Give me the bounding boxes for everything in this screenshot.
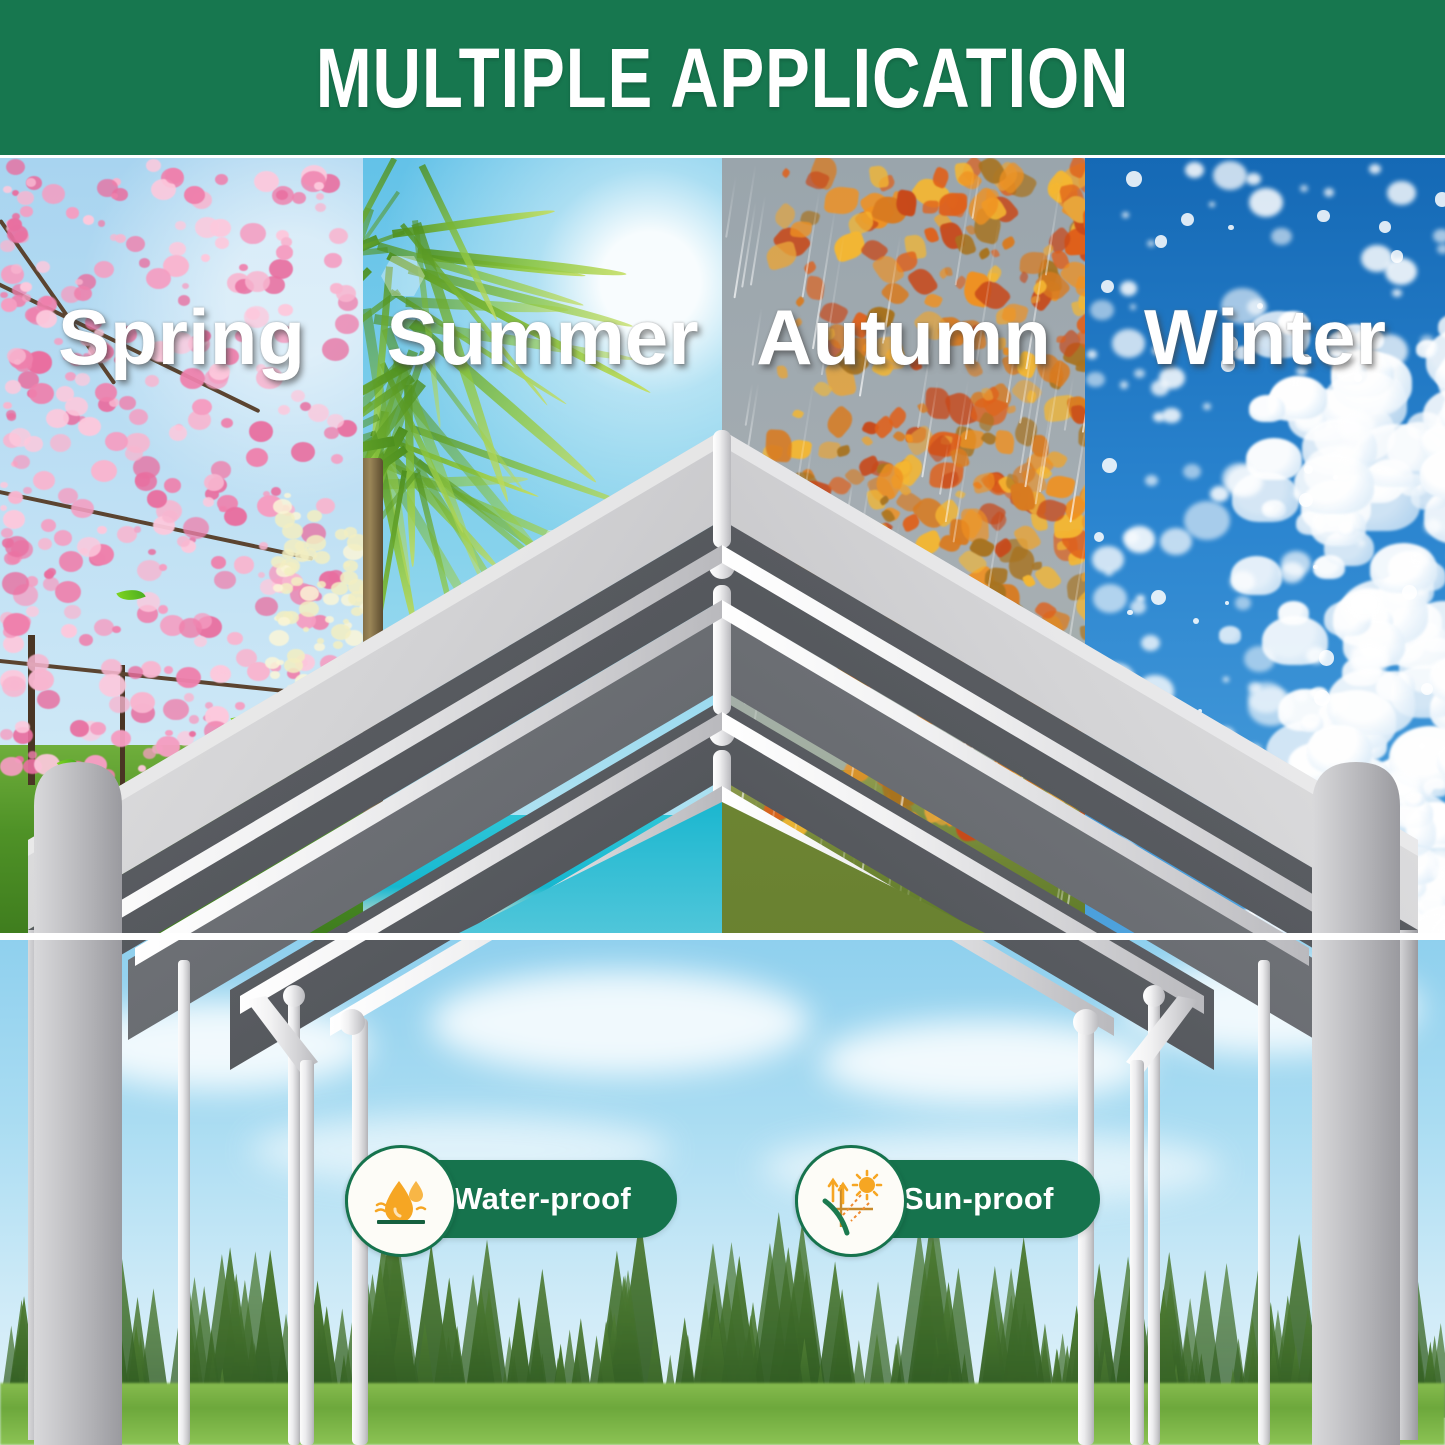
snowflake xyxy=(1387,181,1416,206)
blossom-pale xyxy=(348,579,363,594)
snowflake xyxy=(1136,675,1175,708)
blossom xyxy=(23,487,32,495)
blossom xyxy=(109,696,130,714)
snowflake xyxy=(1335,444,1361,466)
blossom xyxy=(169,242,186,256)
autumn-leaf xyxy=(846,210,876,236)
snowflake xyxy=(1313,565,1317,569)
autumn-leaf xyxy=(954,231,977,257)
blossom xyxy=(308,697,334,719)
blossom xyxy=(148,549,156,556)
snowflake xyxy=(1435,192,1445,207)
snowflake xyxy=(1151,380,1169,396)
blossom xyxy=(300,402,311,411)
snowflake xyxy=(1431,868,1445,881)
blossom xyxy=(176,667,201,688)
blossom xyxy=(175,221,185,230)
autumn-leaf xyxy=(1006,405,1016,414)
palm-trunk xyxy=(363,458,383,818)
snowflake xyxy=(1228,225,1234,231)
blossom-pale xyxy=(314,551,330,564)
blossom-pale xyxy=(331,624,351,640)
rain-streak xyxy=(859,562,874,647)
blossom xyxy=(55,581,81,603)
water-drop-icon xyxy=(365,1165,437,1237)
blossom xyxy=(8,491,23,504)
blossom xyxy=(7,218,23,231)
blossom-pale xyxy=(273,499,292,514)
autumn-leaf xyxy=(829,631,862,658)
autumn-leaf xyxy=(780,169,790,180)
blossom xyxy=(90,722,106,736)
autumn-leaf xyxy=(1045,473,1076,500)
autumn-leaf xyxy=(849,669,858,680)
season-panel-winter: Winter xyxy=(1085,158,1445,935)
snowflake xyxy=(1086,762,1109,781)
blossom-pale xyxy=(345,676,352,682)
blossom xyxy=(3,635,24,653)
blossom xyxy=(28,751,37,759)
summer-sea xyxy=(363,815,722,935)
blossom-pale xyxy=(325,616,334,623)
blossom xyxy=(329,228,348,244)
blossom xyxy=(71,499,94,519)
autumn-leaf xyxy=(772,640,812,682)
blossom xyxy=(324,253,341,268)
snowflake xyxy=(1299,493,1313,507)
blossom xyxy=(20,282,33,293)
blossom xyxy=(255,597,278,616)
season-panel-summer: Summer xyxy=(363,158,722,935)
snowflake xyxy=(1213,161,1247,190)
header-banner: MULTIPLE APPLICATION xyxy=(0,0,1445,155)
frost-branch xyxy=(1249,395,1285,422)
blossom-pale xyxy=(302,736,320,751)
blossom xyxy=(54,530,72,546)
snowflake xyxy=(1126,171,1142,187)
rain-streak xyxy=(734,164,757,298)
autumn-leaf xyxy=(790,220,812,239)
snowflake xyxy=(1145,475,1158,486)
blossom xyxy=(314,182,324,190)
blossom xyxy=(276,245,293,259)
blossom xyxy=(33,471,55,490)
blossom-pale xyxy=(314,643,324,651)
blossom xyxy=(195,217,220,238)
snowflake xyxy=(1223,677,1229,682)
water-proof-icon-circle xyxy=(345,1145,457,1257)
snowflake xyxy=(1369,164,1381,174)
blossom-pale xyxy=(299,601,319,617)
blossom xyxy=(111,730,131,747)
blossom-pale xyxy=(270,671,280,679)
blossom xyxy=(158,605,168,614)
snowflake xyxy=(1178,838,1192,852)
blossom xyxy=(5,380,21,394)
snowflake xyxy=(1324,188,1334,197)
blossom xyxy=(192,399,211,415)
season-label-spring: Spring xyxy=(0,298,363,376)
snowflake xyxy=(1437,244,1445,254)
marketing-image: MULTIPLE APPLICATION Spring Summer xyxy=(0,0,1445,1445)
blossom xyxy=(164,666,173,674)
snowflake xyxy=(1230,571,1255,592)
autumn-leaf xyxy=(770,598,786,616)
blossom xyxy=(327,414,344,428)
snowflake xyxy=(1119,770,1129,780)
blossom xyxy=(91,460,117,482)
blossom xyxy=(249,421,273,442)
snowflake xyxy=(1276,917,1291,930)
snowflake xyxy=(1223,752,1262,785)
blossom xyxy=(169,425,187,440)
blossom xyxy=(324,427,339,439)
autumn-leaf xyxy=(869,165,889,189)
snowflake xyxy=(1209,202,1215,207)
snowflake xyxy=(1433,229,1445,244)
blossom xyxy=(184,693,195,702)
autumn-leaf xyxy=(1001,235,1017,250)
autumn-leaf xyxy=(993,712,1009,725)
cloud xyxy=(1120,960,1420,1055)
blossom-pale xyxy=(333,641,343,649)
snowflake xyxy=(1402,585,1417,600)
snowflake xyxy=(1092,546,1123,573)
blossom-pale xyxy=(278,617,290,627)
blossom xyxy=(331,454,344,465)
snowflake xyxy=(1244,912,1256,924)
blossom xyxy=(46,409,68,428)
blossom xyxy=(143,748,156,759)
autumn-leaf xyxy=(860,435,873,448)
blossom xyxy=(24,436,43,452)
snowflake xyxy=(1101,280,1114,293)
frost-branch xyxy=(1307,725,1372,774)
frost-branch xyxy=(1368,806,1436,857)
blossom xyxy=(26,606,39,617)
blossom-pale xyxy=(314,679,322,685)
autumn-leaf xyxy=(977,247,991,260)
blossom xyxy=(3,186,12,194)
blossom-pale xyxy=(269,630,289,646)
blossom xyxy=(0,482,8,489)
blossom-pale xyxy=(303,627,309,632)
blossom-pale xyxy=(317,581,326,588)
blossom-pale xyxy=(295,674,312,688)
blossom xyxy=(29,383,53,404)
snowflake xyxy=(1094,532,1104,542)
snowflake xyxy=(1147,240,1155,247)
blossom xyxy=(64,605,81,619)
blossom xyxy=(119,396,136,410)
blossom xyxy=(254,171,279,192)
blossom-pale xyxy=(307,510,322,522)
meadow xyxy=(0,1383,1445,1445)
blossom xyxy=(130,692,155,714)
autumn-leaf xyxy=(935,706,952,727)
blossom xyxy=(291,442,315,463)
blossom xyxy=(3,510,26,529)
snowflake xyxy=(1128,752,1132,756)
cloud xyxy=(70,1000,370,1090)
blossom xyxy=(204,721,228,742)
snowflake xyxy=(1249,188,1284,218)
snowflake xyxy=(1183,464,1201,479)
blossom xyxy=(204,474,224,491)
snowflake xyxy=(1105,570,1113,577)
page-title: MULTIPLE APPLICATION xyxy=(316,36,1130,120)
blossom xyxy=(128,666,144,679)
blossom xyxy=(5,536,29,557)
blossom xyxy=(37,690,60,710)
snowflake xyxy=(1351,766,1359,773)
cloud xyxy=(430,970,810,1075)
blossom-pale xyxy=(284,658,303,673)
snowflake xyxy=(1095,663,1134,696)
snowflake xyxy=(1162,408,1180,424)
snowflake xyxy=(1261,817,1303,853)
blossom xyxy=(47,568,56,575)
blossom-pale xyxy=(275,511,296,528)
blossom xyxy=(17,191,34,205)
snowflake xyxy=(1185,162,1205,179)
snowflake xyxy=(1155,235,1167,247)
badge-sun-proof[interactable]: Sun-proof xyxy=(795,1145,1100,1253)
scene-divider xyxy=(0,933,1445,940)
sun-proof-icon-circle xyxy=(795,1145,907,1257)
snowflake xyxy=(1337,818,1344,824)
blossom xyxy=(79,634,93,646)
snowflake xyxy=(1186,814,1203,828)
pine-forest xyxy=(0,1230,1445,1445)
blossom xyxy=(126,236,145,252)
autumn-leaf xyxy=(836,445,851,458)
blossom xyxy=(94,619,114,636)
blossom-pale xyxy=(290,742,305,754)
snowflake xyxy=(1120,381,1129,388)
blossom xyxy=(234,556,255,573)
snowflake xyxy=(1392,289,1402,297)
blossom xyxy=(156,736,180,756)
blossom xyxy=(6,159,25,175)
autumn-leaf xyxy=(767,738,785,758)
blossom xyxy=(98,220,106,227)
blossom xyxy=(13,455,30,470)
badge-water-proof[interactable]: Water-proof xyxy=(345,1145,677,1253)
blossom xyxy=(227,632,243,645)
cloud xyxy=(820,1020,1150,1105)
rain-streak xyxy=(725,176,737,237)
blossom-pale xyxy=(326,726,344,740)
blossom xyxy=(34,754,59,776)
autumn-leaf xyxy=(791,408,804,420)
blossom xyxy=(61,624,78,638)
blossom xyxy=(271,487,281,496)
autumn-leaf xyxy=(824,185,860,215)
snowflake xyxy=(1102,458,1117,473)
blossom xyxy=(189,715,199,724)
blossom xyxy=(27,654,49,673)
blossom xyxy=(146,268,171,289)
blossom xyxy=(139,258,150,267)
blossom-pale xyxy=(272,770,287,782)
snowflake xyxy=(1319,650,1334,665)
blossom xyxy=(78,417,101,437)
blossom xyxy=(42,184,65,204)
blossom-pale xyxy=(284,493,291,499)
snowflake xyxy=(1210,486,1229,502)
blossom xyxy=(165,168,183,183)
sun-proof-label: Sun-proof xyxy=(903,1181,1054,1217)
blossom xyxy=(239,264,247,271)
season-label-autumn: Autumn xyxy=(722,298,1085,376)
snowflake xyxy=(1338,411,1375,442)
blossom xyxy=(75,279,82,285)
snowflake xyxy=(1122,212,1130,219)
blossom xyxy=(66,207,80,219)
snowflake xyxy=(1316,876,1323,882)
snowflake xyxy=(1226,466,1263,497)
snowflake xyxy=(1383,770,1419,800)
snowflake xyxy=(1225,601,1229,605)
blossom xyxy=(141,661,161,678)
blossom xyxy=(291,390,305,402)
snowflake xyxy=(1091,708,1098,715)
snowflake xyxy=(1409,549,1430,567)
blossom-pale xyxy=(346,697,363,712)
snowflake xyxy=(1379,221,1391,233)
blossom xyxy=(77,537,101,557)
blossom-pale xyxy=(284,567,295,576)
blossom xyxy=(83,215,95,225)
snowflake xyxy=(1300,185,1309,192)
blossom-pale xyxy=(342,719,349,724)
blossom xyxy=(20,206,32,217)
snowflake xyxy=(1198,709,1202,713)
blossom xyxy=(0,729,13,740)
blossom xyxy=(235,702,244,710)
blossom xyxy=(215,174,228,185)
snowflake xyxy=(1088,727,1127,760)
sun-ray-deflect-icon xyxy=(815,1165,887,1237)
snowflake xyxy=(1215,841,1222,848)
autumn-leaf xyxy=(921,653,932,663)
snowflake xyxy=(1291,883,1336,921)
autumn-leaf xyxy=(923,226,939,244)
blossom-pale xyxy=(347,534,363,551)
snowflake xyxy=(1147,723,1152,728)
blossom xyxy=(236,649,257,667)
snowflake xyxy=(1314,690,1330,706)
blossom xyxy=(292,192,306,204)
blossom xyxy=(177,536,190,547)
autumn-leaf xyxy=(923,200,939,213)
blossom xyxy=(1,528,13,538)
blossom-pale xyxy=(276,660,283,666)
blossom xyxy=(159,564,167,570)
blossom xyxy=(50,434,71,452)
snowflake xyxy=(1294,691,1307,702)
blossom xyxy=(221,418,233,428)
blossom xyxy=(56,386,75,402)
blossom xyxy=(129,409,148,425)
snowflake xyxy=(1120,281,1138,296)
blossom xyxy=(330,283,342,293)
snowflake xyxy=(1219,813,1229,822)
blossom xyxy=(240,223,265,245)
snowflake xyxy=(1181,213,1194,226)
blossom xyxy=(3,402,11,409)
blossom xyxy=(147,490,168,508)
blossom-pale xyxy=(327,661,343,674)
snowflake xyxy=(1124,526,1155,553)
blossom-pale xyxy=(300,586,318,601)
snowflake xyxy=(1271,228,1291,245)
snowflake xyxy=(1433,661,1444,671)
blossom-pale xyxy=(317,638,325,644)
frost-branch xyxy=(1423,778,1445,798)
season-label-summer: Summer xyxy=(363,298,722,376)
frost-branch xyxy=(1370,543,1437,593)
blossom xyxy=(59,551,83,572)
blossom-pale xyxy=(291,577,302,586)
blossom xyxy=(2,572,29,595)
water-proof-label: Water-proof xyxy=(453,1181,631,1217)
snowflake xyxy=(1235,596,1251,609)
snowflake xyxy=(1184,501,1230,540)
blossom xyxy=(41,519,56,532)
frost-branch xyxy=(1219,626,1242,643)
blossom xyxy=(245,271,270,292)
blossom xyxy=(97,526,107,534)
blossom-pale xyxy=(323,593,339,606)
feature-badges: Water-proof Sun-proof xyxy=(0,1145,1445,1253)
blossom xyxy=(201,254,211,262)
autumn-leaf xyxy=(765,429,792,462)
snowflake xyxy=(1281,551,1311,577)
blossom xyxy=(7,413,16,420)
blossom-pale xyxy=(287,689,295,696)
blossom xyxy=(316,193,325,200)
blossom-pale xyxy=(347,756,354,762)
snowflake xyxy=(1127,610,1132,615)
season-label-winter: Winter xyxy=(1085,298,1445,376)
snowflake xyxy=(1385,258,1417,285)
blossom xyxy=(36,261,50,273)
season-panels: Spring Summer Autumn Winter xyxy=(0,158,1445,935)
autumn-leaf xyxy=(893,430,907,444)
snowflake xyxy=(1248,687,1294,726)
autumn-leaf xyxy=(994,430,1015,455)
snowflake xyxy=(1111,837,1135,858)
blossom xyxy=(215,237,229,249)
blossom xyxy=(179,618,203,638)
blossom-pale xyxy=(330,716,343,726)
blossom xyxy=(258,572,265,578)
snowflake xyxy=(1093,584,1127,613)
snowflake xyxy=(1317,210,1329,222)
autumn-leaf xyxy=(960,508,989,543)
blossom xyxy=(214,571,235,589)
snowflake xyxy=(1244,646,1275,672)
autumn-leaf xyxy=(1029,774,1050,791)
snowflake xyxy=(1391,250,1403,262)
blossom xyxy=(146,159,161,172)
blossom xyxy=(134,526,141,532)
blossom xyxy=(182,283,189,289)
autumn-leaf xyxy=(834,727,848,744)
snowflake xyxy=(1160,528,1192,555)
